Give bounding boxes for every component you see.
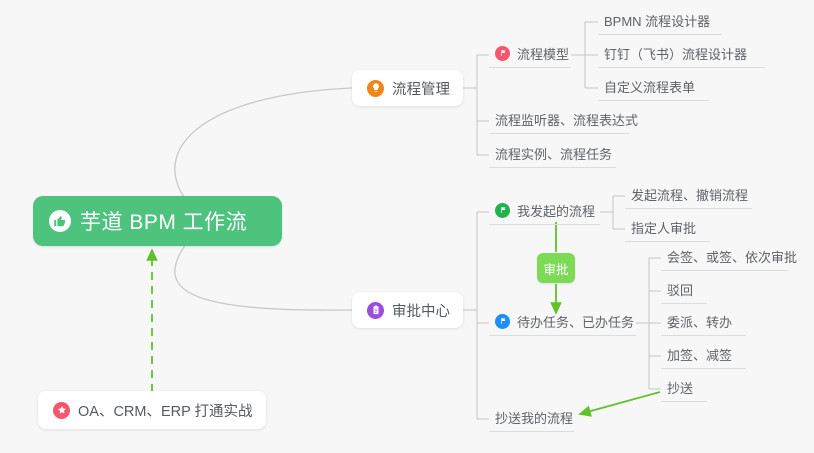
branch-label: 审批中心 xyxy=(392,300,450,321)
node-process-listener-expression[interactable]: 流程监听器、流程表达式 xyxy=(489,109,629,134)
node-label: 我发起的流程 xyxy=(517,201,595,220)
node-label: 流程模型 xyxy=(517,44,569,63)
node-add-remove-sign[interactable]: 加签、减签 xyxy=(661,344,746,369)
node-label: 会签、或签、依次审批 xyxy=(667,247,797,266)
root-label: 芋道 BPM 工作流 xyxy=(80,206,247,236)
thumbs-up-icon xyxy=(49,210,71,232)
node-bpmn-designer[interactable]: BPMN 流程设计器 xyxy=(598,10,722,35)
annotation-approval-tag[interactable]: 审批 xyxy=(537,253,575,283)
node-process-instance-task[interactable]: 流程实例、流程任务 xyxy=(489,143,616,168)
node-cc-to-me-process[interactable]: 抄送我的流程 xyxy=(489,407,574,432)
branch-process-management[interactable]: 流程管理 xyxy=(352,70,463,106)
node-label: 委派、转办 xyxy=(667,312,732,331)
node-label: 驳回 xyxy=(667,280,693,299)
node-label: 抄送 xyxy=(667,378,693,397)
root-node[interactable]: 芋道 BPM 工作流 xyxy=(33,196,282,246)
branch-label: 流程管理 xyxy=(392,78,450,99)
node-my-started-process[interactable]: 我发起的流程 xyxy=(489,199,600,225)
star-icon xyxy=(53,402,70,419)
node-cc[interactable]: 抄送 xyxy=(661,377,707,402)
node-countersign-orsign-sequential[interactable]: 会签、或签、依次审批 xyxy=(661,246,788,271)
node-label: 加签、减签 xyxy=(667,345,732,364)
flag-icon-blue xyxy=(495,314,510,329)
node-start-cancel-process[interactable]: 发起流程、撤销流程 xyxy=(625,184,752,209)
node-label: 流程实例、流程任务 xyxy=(495,144,612,163)
node-todo-done-tasks[interactable]: 待办任务、已办任务 xyxy=(489,310,636,336)
node-label: 流程监听器、流程表达式 xyxy=(495,110,638,129)
node-label: BPMN 流程设计器 xyxy=(604,11,710,30)
mindmap-canvas: 芋道 BPM 工作流 流程管理 流程模型 BPMN 流程设计器 钉钉（飞书）流程… xyxy=(0,0,814,453)
node-label: 指定人审批 xyxy=(631,218,696,237)
lightbulb-icon xyxy=(367,80,384,97)
clipboard-icon xyxy=(367,302,384,319)
flag-icon-red xyxy=(495,46,510,61)
flag-icon-green xyxy=(495,203,510,218)
floating-node-label: OA、CRM、ERP 打通实战 xyxy=(78,400,253,421)
node-label: 自定义流程表单 xyxy=(604,77,695,96)
node-dingtalk-feishu-designer[interactable]: 钉钉（飞书）流程设计器 xyxy=(598,43,765,68)
node-label: 发起流程、撤销流程 xyxy=(631,185,748,204)
node-delegate-transfer[interactable]: 委派、转办 xyxy=(661,311,746,336)
annotation-label: 审批 xyxy=(543,259,568,278)
node-assignee-approval[interactable]: 指定人审批 xyxy=(625,217,710,242)
node-label: 待办任务、已办任务 xyxy=(517,312,634,331)
node-label: 钉钉（飞书）流程设计器 xyxy=(604,44,747,63)
floating-node-oa-crm-erp[interactable]: OA、CRM、ERP 打通实战 xyxy=(38,391,266,429)
node-process-model[interactable]: 流程模型 xyxy=(489,42,571,68)
node-custom-process-form[interactable]: 自定义流程表单 xyxy=(598,76,709,101)
node-label: 抄送我的流程 xyxy=(495,408,573,427)
branch-approval-center[interactable]: 审批中心 xyxy=(352,292,463,328)
node-reject[interactable]: 驳回 xyxy=(661,279,707,304)
